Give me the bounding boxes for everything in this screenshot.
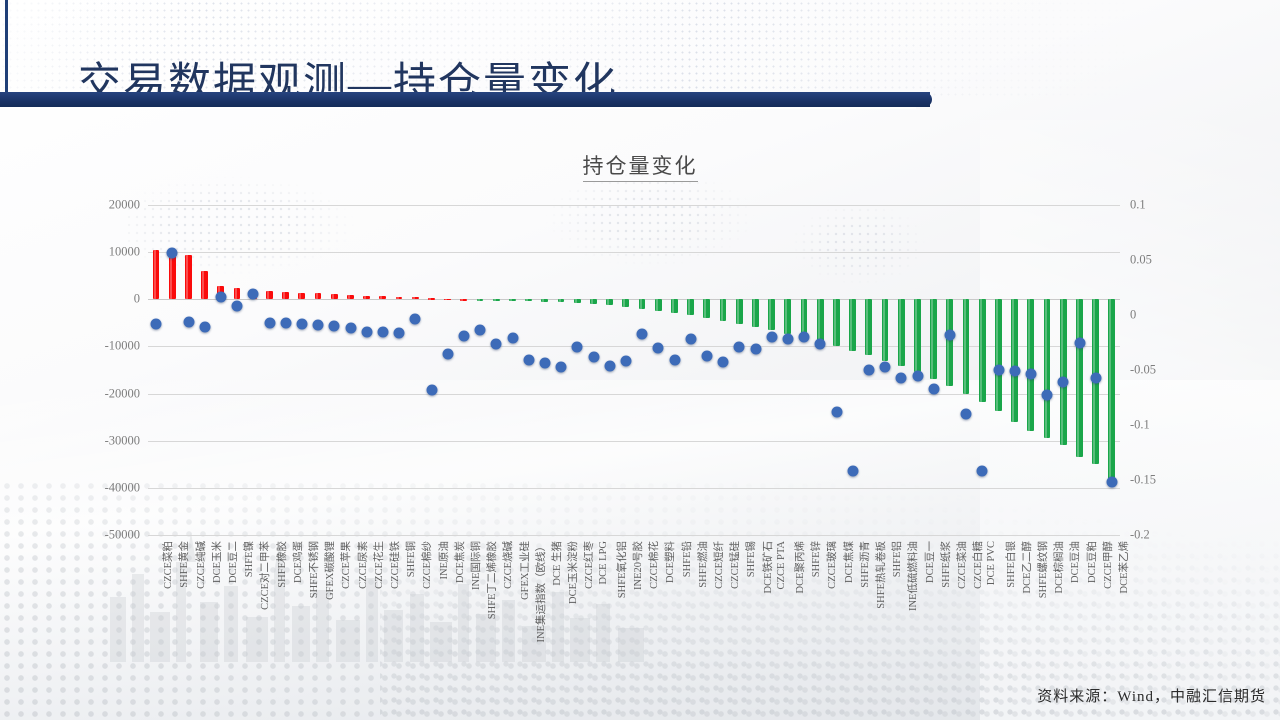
x-axis-label: CZCE PTA (776, 541, 787, 589)
chart-bar (460, 299, 467, 301)
x-axis-label: SHFE沥青 (857, 541, 872, 588)
y-axis-tick-right: -0.2 (1130, 528, 1150, 543)
x-axis-label: DCE PVC (986, 541, 997, 585)
chart-bar (784, 299, 791, 334)
chart-marker (620, 356, 631, 367)
chart-marker (475, 325, 486, 336)
chart-bar (315, 293, 322, 299)
x-axis-label: CZCE花生 (371, 541, 386, 589)
x-axis-label: DCE 生猪 (549, 541, 564, 586)
x-axis-label: DCE豆油 (1067, 541, 1082, 583)
chart-bar (525, 299, 532, 301)
chart-marker (1090, 372, 1101, 383)
x-axis-label: CZCE菜油 (954, 541, 969, 589)
x-axis-label: CZCE棉纱 (419, 541, 434, 589)
chart-marker (377, 326, 388, 337)
chart-bar (347, 295, 354, 299)
chart-marker (296, 318, 307, 329)
x-axis-label: DCE苯乙烯 (1116, 541, 1131, 594)
chart-container: 持仓量变化 20000100000-10000-20000-30000-4000… (0, 140, 1280, 560)
x-axis-label: SHFE纸浆 (938, 541, 953, 588)
x-axis-label: DCE焦煤 (841, 541, 856, 583)
x-axis-label: DCE鸡蛋 (290, 541, 305, 583)
y-axis-tick-left: -30000 (105, 433, 140, 448)
x-axis-label: CZCE锰硅 (727, 541, 742, 589)
chart-marker (248, 289, 259, 300)
y-axis-tick-left: 0 (134, 292, 140, 307)
chart-bar (849, 299, 856, 350)
chart-marker (1106, 477, 1117, 488)
chart-marker (961, 409, 972, 420)
chart-bar (185, 255, 192, 299)
chart-bar (153, 250, 160, 300)
x-axis-label: SHFE白银 (1003, 541, 1018, 588)
header-accent-bar (0, 92, 930, 107)
chart-marker (215, 292, 226, 303)
chart-marker (280, 317, 291, 328)
chart-marker (264, 317, 275, 328)
chart-marker (831, 406, 842, 417)
chart-marker (637, 328, 648, 339)
x-axis-label: CZCE纯碱 (193, 541, 208, 589)
header-left-rule (5, 0, 8, 104)
x-axis-label: SHFE不锈钢 (306, 541, 321, 598)
y-axis-tick-left: -40000 (105, 480, 140, 495)
chart-marker (896, 372, 907, 383)
chart-marker (507, 333, 518, 344)
chart-bar (201, 271, 208, 300)
chart-bar (541, 299, 548, 301)
chart-marker (912, 370, 923, 381)
y-axis-tick-left: -10000 (105, 339, 140, 354)
chart-marker (539, 358, 550, 369)
chart-marker (782, 334, 793, 345)
chart-marker (1074, 337, 1085, 348)
chart-marker (685, 334, 696, 345)
chart-bar (687, 299, 694, 315)
chart-marker (799, 332, 810, 343)
chart-marker (426, 384, 437, 395)
x-axis-label: INE20号胶 (630, 541, 645, 590)
chart-bar (946, 299, 953, 386)
chart-marker (1009, 366, 1020, 377)
chart-bar (606, 299, 613, 305)
chart-bar (914, 299, 921, 372)
x-axis-label: CZCE甲醇 (1100, 541, 1115, 589)
chart-marker (329, 321, 340, 332)
gridline (148, 394, 1120, 395)
chart-bar (752, 299, 759, 327)
gridline (148, 346, 1120, 347)
y-axis-tick-right: 0.05 (1130, 253, 1152, 268)
x-axis-label: CZCE白糖 (970, 541, 985, 589)
chart-bar (655, 299, 662, 310)
x-axis-label: SHFE氧化铝 (614, 541, 629, 598)
chart-bar (720, 299, 727, 321)
x-axis-label: DCE铁矿石 (760, 541, 775, 594)
y-axis-tick-right: 0.1 (1130, 198, 1146, 213)
chart-marker (653, 343, 664, 354)
y-axis-tick-left: -50000 (105, 528, 140, 543)
chart-bar (477, 299, 484, 301)
chart-marker (880, 361, 891, 372)
y-axis-tick-left: 20000 (109, 198, 140, 213)
chart-marker (718, 357, 729, 368)
gridline (148, 441, 1120, 442)
chart-plot-area: 20000100000-10000-20000-30000-40000-5000… (148, 205, 1120, 535)
x-axis-label: CZCE红枣 (581, 541, 596, 589)
chart-marker (572, 341, 583, 352)
x-axis-label: CZCE硅铁 (387, 541, 402, 589)
x-axis-label: SHFE镍 (241, 541, 256, 577)
x-axis-label: DCE豆粕 (1084, 541, 1099, 583)
chart-bar (493, 299, 500, 301)
source-note: 资料来源：Wind，中融汇信期货 (1037, 685, 1266, 706)
chart-marker (669, 355, 680, 366)
chart-bar (736, 299, 743, 324)
chart-marker (1025, 369, 1036, 380)
chart-marker (232, 301, 243, 312)
x-axis-label: CZCE烧碱 (500, 541, 515, 589)
gridline (148, 299, 1120, 300)
chart-marker (588, 351, 599, 362)
chart-bar (282, 292, 289, 299)
x-axis-label: SHFE铜 (403, 541, 418, 577)
chart-bar (898, 299, 905, 366)
chart-marker (394, 327, 405, 338)
chart-bar (817, 299, 824, 341)
x-axis-label: SHFE橡胶 (274, 541, 289, 588)
chart-marker (491, 338, 502, 349)
chart-bar (331, 294, 338, 299)
x-axis-label: INE低硫燃料油 (905, 541, 920, 611)
chart-marker (928, 383, 939, 394)
header-accent-bar-tip (900, 92, 932, 107)
x-axis-label: DCE玉米淀粉 (565, 541, 580, 604)
x-axis-label: INE集运指数（欧线） (533, 541, 548, 643)
x-axis-label: SHFE铅 (679, 541, 694, 577)
y-axis-tick-right: -0.1 (1130, 418, 1150, 433)
gridline (148, 488, 1120, 489)
chart-bar (930, 299, 937, 379)
chart-marker (556, 361, 567, 372)
x-axis-label: CZCE玻璃 (824, 541, 839, 589)
chart-bar (622, 299, 629, 307)
chart-bar (509, 299, 516, 301)
chart-bar (1011, 299, 1018, 422)
chart-bar (558, 299, 565, 302)
chart-marker (701, 350, 712, 361)
chart-marker (199, 322, 210, 333)
chart-bar (963, 299, 970, 393)
x-axis-label: SHFE燃油 (695, 541, 710, 588)
chart-bar (412, 297, 419, 299)
chart-bar (234, 288, 241, 299)
chart-marker (361, 326, 372, 337)
x-axis-label: SHFE铝 (889, 541, 904, 577)
chart-bar (882, 299, 889, 360)
chart-bar (703, 299, 710, 318)
chart-marker (151, 318, 162, 329)
chart-bar (1108, 299, 1115, 481)
chart-marker (183, 316, 194, 327)
chart-marker (1042, 390, 1053, 401)
chart-bar (574, 299, 581, 303)
x-axis-label: CZCE对二甲苯 (257, 541, 272, 610)
y-axis-tick-left: -20000 (105, 386, 140, 401)
x-axis-label: INE国际铜 (468, 541, 483, 590)
chart-bar (444, 299, 451, 301)
chart-title: 持仓量变化 (0, 150, 1280, 180)
chart-bar (1076, 299, 1083, 457)
chart-marker (944, 329, 955, 340)
gridline (148, 535, 1120, 536)
chart-marker (345, 323, 356, 334)
chart-title-text: 持仓量变化 (583, 154, 698, 182)
chart-bar (379, 296, 386, 299)
x-axis-label: CZCE棉花 (646, 541, 661, 589)
chart-marker (167, 248, 178, 259)
x-axis-label: CZCE尿素 (355, 541, 370, 589)
chart-bar (590, 299, 597, 304)
chart-marker (458, 330, 469, 341)
chart-marker (523, 355, 534, 366)
chart-bar (1027, 299, 1034, 431)
chart-marker (847, 466, 858, 477)
x-axis-label: GFEX工业硅 (517, 541, 532, 600)
x-axis-label: SHFE黄金 (176, 541, 191, 588)
x-axis-label: CZCE苹果 (338, 541, 353, 589)
chart-bar (671, 299, 678, 313)
chart-bar (833, 299, 840, 346)
x-axis-label: INE原油 (436, 541, 451, 580)
chart-bar (865, 299, 872, 355)
chart-marker (1058, 377, 1069, 388)
chart-bar (266, 291, 273, 299)
chart-bar (995, 299, 1002, 411)
x-axis-label: DCE乙二醇 (1019, 541, 1034, 594)
chart-bar (639, 299, 646, 308)
x-axis-label: DCE塑料 (662, 541, 677, 583)
chart-bar (363, 296, 370, 300)
x-axis-label: DCE焦炭 (452, 541, 467, 583)
chart-bar (428, 298, 435, 300)
x-axis-label: DCE LPG (598, 541, 609, 584)
gridline (148, 205, 1120, 206)
chart-marker (604, 360, 615, 371)
chart-marker (815, 338, 826, 349)
chart-marker (410, 314, 421, 325)
x-axis-label: DCE豆一 (922, 541, 937, 583)
x-axis-label: DCE豆二 (225, 541, 240, 583)
x-axis-label: SHFE螺纹钢 (1035, 541, 1050, 598)
chart-marker (766, 332, 777, 343)
chart-marker (863, 365, 874, 376)
x-axis-label: CZCE短纤 (711, 541, 726, 589)
header-underline (0, 107, 916, 109)
chart-marker (442, 348, 453, 359)
chart-bar (768, 299, 775, 330)
x-axis-label: SHFE锌 (808, 541, 823, 577)
slide-canvas: 交易数据观测—持仓量变化 持仓量变化 20000100000-10000-200… (0, 0, 1280, 720)
chart-marker (977, 466, 988, 477)
y-axis-tick-right: -0.15 (1130, 473, 1156, 488)
chart-bar (1044, 299, 1051, 438)
chart-marker (750, 344, 761, 355)
y-axis-tick-right: -0.05 (1130, 363, 1156, 378)
x-axis-label: SHFE锡 (743, 541, 758, 577)
chart-marker (993, 365, 1004, 376)
chart-bar (298, 293, 305, 300)
y-axis-tick-left: 10000 (109, 245, 140, 260)
chart-marker (734, 341, 745, 352)
chart-marker (313, 319, 324, 330)
x-axis-label: DCE聚丙烯 (792, 541, 807, 594)
y-axis-tick-right: 0 (1130, 308, 1136, 323)
x-axis-label: DCE玉米 (209, 541, 224, 583)
x-axis-label: GFEX碳酸锂 (322, 541, 337, 600)
chart-bar (979, 299, 986, 402)
x-axis-label: DCE棕榈油 (1051, 541, 1066, 594)
gridline (148, 252, 1120, 253)
x-axis-label: CZCE菜粕 (160, 541, 175, 589)
x-axis-label: SHFE热轧卷板 (873, 541, 888, 609)
chart-bar (1060, 299, 1067, 445)
x-axis-label: SHFE丁二烯橡胶 (484, 541, 499, 619)
